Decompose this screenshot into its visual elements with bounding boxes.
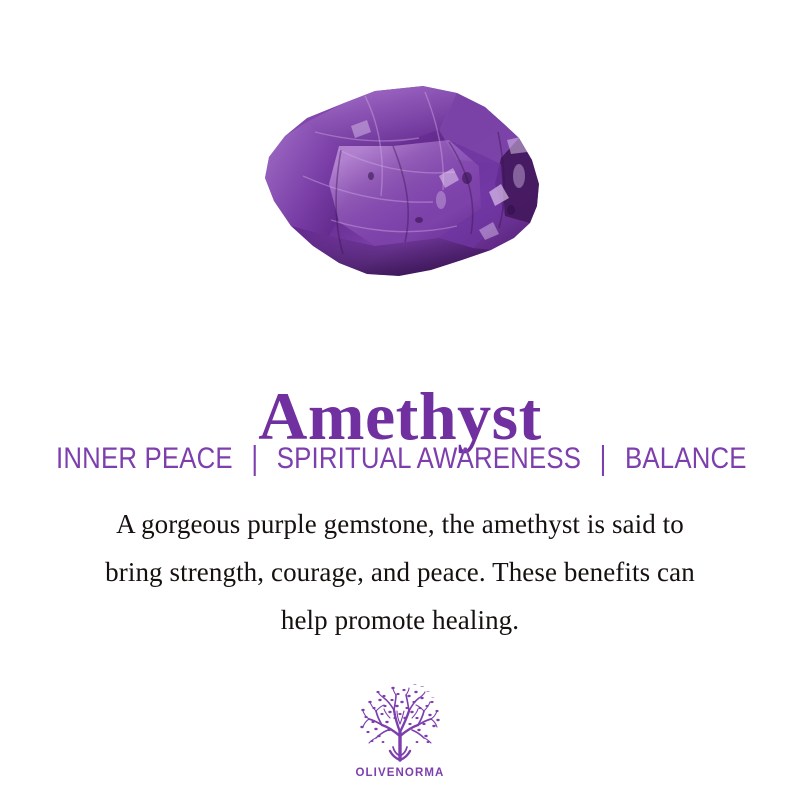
amethyst-stone-image bbox=[243, 80, 553, 298]
keyword-spiritual-awareness: SPIRITUAL AWARENESS bbox=[277, 442, 581, 475]
keyword-balance: BALANCE bbox=[625, 442, 747, 475]
page-title: Amethyst bbox=[0, 382, 800, 450]
hero-image-area bbox=[0, 0, 800, 320]
brand-logo: OLIVENORMA bbox=[0, 684, 800, 779]
keyword-list: INNER PEACE | SPIRITUAL AWARENESS | BALA… bbox=[56, 442, 744, 475]
keyword-separator: | bbox=[240, 440, 269, 477]
keyword-separator: | bbox=[588, 440, 617, 477]
description-paragraph: A gorgeous purple gemstone, the amethyst… bbox=[60, 500, 740, 644]
description-line: help promote healing. bbox=[60, 596, 740, 644]
keyword-inner-peace: INNER PEACE bbox=[56, 442, 233, 475]
amethyst-info-card: Amethyst INNER PEACE | SPIRITUAL AWARENE… bbox=[0, 0, 800, 800]
description-line: A gorgeous purple gemstone, the amethyst… bbox=[60, 500, 740, 548]
brand-wordmark: OLIVENORMA bbox=[0, 767, 800, 779]
description-line: bring strength, courage, and peace. Thes… bbox=[60, 548, 740, 596]
tree-of-life-icon bbox=[354, 684, 446, 764]
